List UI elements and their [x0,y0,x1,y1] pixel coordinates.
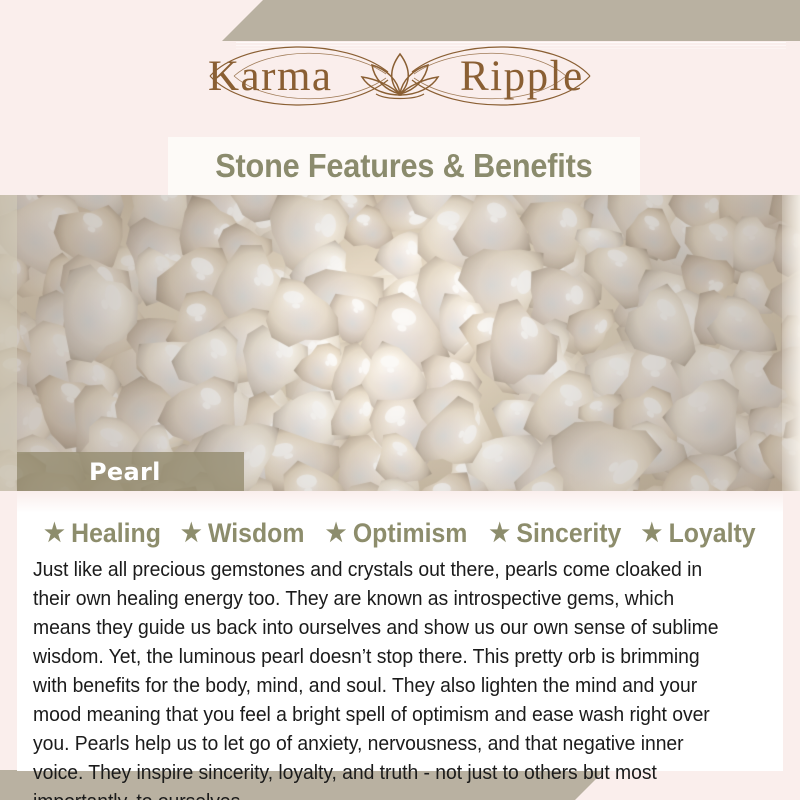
star-icon: ★ [181,521,202,546]
brand-logo: Karma Ripple [0,32,800,120]
star-icon: ★ [326,521,347,546]
keyword-label: Sincerity [516,518,621,549]
keyword-label: Healing [71,518,161,549]
content-card: ★ Healing ★ Wisdom ★ Optimism ★ Sincerit… [17,491,783,771]
star-icon: ★ [44,521,65,546]
lotus-flower-icon [362,54,438,99]
stone-name-label: Pearl [89,458,161,486]
stone-description-text: Just like all precious gemstones and cry… [33,556,736,800]
keyword-item: ★ Optimism [316,518,467,549]
section-header-banner: Stone Features & Benefits [168,137,640,195]
brand-word-left: Karma [208,53,333,100]
photo-right-edge-fade [782,195,800,491]
keyword-item: ★ Sincerity [480,518,621,549]
keyword-item: ★ Healing [44,518,161,549]
brand-logo-svg: Karma Ripple [150,32,650,120]
infographic-page: Karma Ripple Stone Features & Benefits P… [0,0,800,800]
keyword-label: Loyalty [669,518,756,549]
keyword-label: Wisdom [208,518,304,549]
page-title: Stone Features & Benefits [215,147,592,185]
photo-left-edge-fade [0,195,17,491]
keyword-label: Optimism [353,518,468,549]
keyword-item: ★ Loyalty [633,518,756,549]
star-icon: ★ [489,521,510,546]
star-icon: ★ [642,521,663,546]
stone-photo [0,195,800,491]
stone-name-bar: Pearl [17,452,244,491]
brand-word-right: Ripple [460,53,584,100]
pearl-photo-canvas [0,195,800,491]
keyword-list: ★ Healing ★ Wisdom ★ Optimism ★ Sincerit… [17,491,783,552]
keyword-item: ★ Wisdom [171,518,304,549]
